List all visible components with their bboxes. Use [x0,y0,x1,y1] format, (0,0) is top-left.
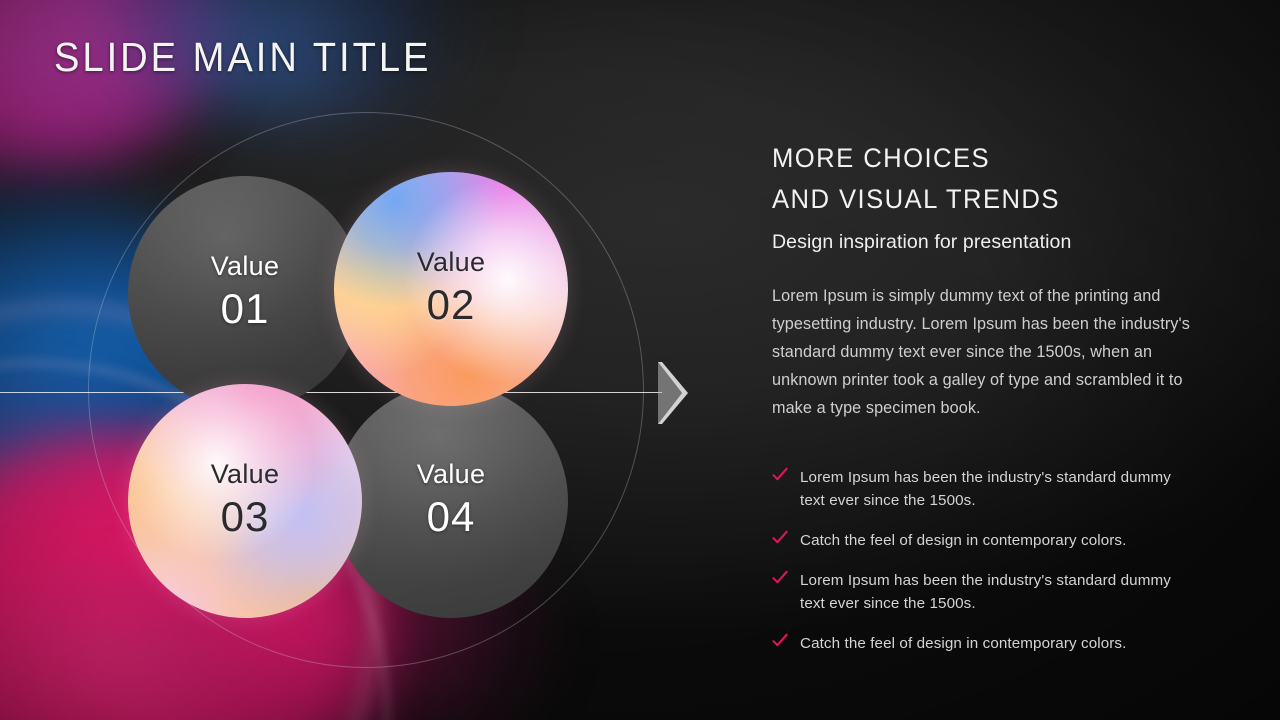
value-node-04-number: 04 [427,491,476,543]
check-icon [772,530,788,546]
bullet-list: Lorem Ipsum has been the industry's stan… [772,466,1172,655]
content-panel: MORE CHOICES AND VISUAL TRENDS Design in… [772,0,1242,720]
value-node-03-number: 03 [221,491,270,543]
value-node-01-number: 01 [221,283,270,335]
section-subheading: Design inspiration for presentation [772,231,1071,254]
chevron-right-icon [652,358,692,428]
list-item: Catch the feel of design in contemporary… [772,632,1172,655]
list-item: Lorem Ipsum has been the industry's stan… [772,466,1172,512]
value-circles-diagram: Value 01 Value 04 Value 02 Value 03 [0,0,720,720]
value-node-01[interactable]: Value 01 [128,176,362,410]
list-item: Lorem Ipsum has been the industry's stan… [772,569,1172,615]
list-item-label: Catch the feel of design in contemporary… [800,532,1126,549]
value-node-01-caption: Value [211,251,280,283]
value-node-02-number: 02 [427,279,476,331]
check-icon [772,633,788,649]
check-icon [772,467,788,483]
value-node-02-caption: Value [417,247,486,279]
value-node-02[interactable]: Value 02 [334,172,568,406]
section-heading-line-1: MORE CHOICES [772,138,1060,179]
value-node-03-caption: Value [211,459,280,491]
value-node-04-caption: Value [417,459,486,491]
list-item: Catch the feel of design in contemporary… [772,529,1172,552]
list-item-label: Lorem Ipsum has been the industry's stan… [800,572,1171,612]
body-paragraph: Lorem Ipsum is simply dummy text of the … [772,282,1192,422]
presentation-slide: SLIDE MAIN TITLE Value 01 Value 04 Value… [0,0,1280,720]
value-node-04[interactable]: Value 04 [334,384,568,618]
list-item-label: Lorem Ipsum has been the industry's stan… [800,469,1171,509]
section-heading: MORE CHOICES AND VISUAL TRENDS [772,138,1060,220]
check-icon [772,570,788,586]
value-node-03[interactable]: Value 03 [128,384,362,618]
list-item-label: Catch the feel of design in contemporary… [800,635,1126,652]
horizontal-axis-line [0,392,662,393]
section-heading-line-2: AND VISUAL TRENDS [772,179,1060,220]
